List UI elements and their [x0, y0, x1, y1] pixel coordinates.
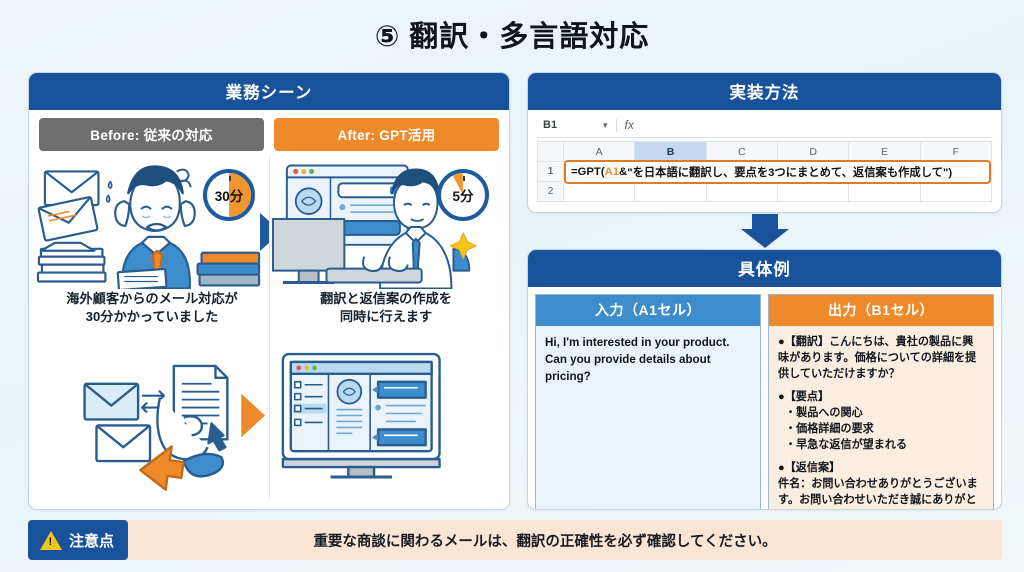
input-column: 入力（A1セル） Hi, I'm interested in your prod… [535, 294, 761, 510]
cell-d2[interactable] [777, 182, 848, 202]
flow-arrow-down [527, 213, 1002, 249]
column-header-d[interactable]: D [777, 142, 848, 162]
cell-f2[interactable] [920, 182, 991, 202]
before-to-after-arrow [260, 213, 269, 251]
arrow-down-icon [741, 214, 789, 248]
warning-triangle-icon [40, 531, 62, 550]
spreadsheet: B1 ▾ fx A B C D E F 1 [528, 110, 1001, 212]
stopwatch-stem [459, 169, 467, 170]
column-header-b[interactable]: B [635, 142, 706, 162]
list-item: ・製品への関心 [785, 406, 984, 422]
tab-before[interactable]: Before: 従来の対応 [39, 118, 264, 151]
business-scene-panel: 業務シーン Before: 従来の対応 After: GPT活用 [28, 72, 510, 510]
example-panel: 具体例 入力（A1セル） Hi, I'm interested in your … [527, 249, 1002, 510]
table-row: 2 [538, 182, 992, 202]
formula-prefix: =GPT( [571, 166, 605, 178]
output-reply-text: 件名：お問い合わせありがとうございます。お問い合わせいただき誠にありがとうござい… [778, 477, 984, 510]
bottom-left-illustration [35, 325, 269, 506]
after-caption-line1: 翻訳と返信案の作成を [269, 290, 503, 308]
warning-bar: 注意点 重要な商談に関わるメールは、翻訳の正確性を必ず確認してください。 [28, 520, 1002, 560]
business-scene-body: Before: 従来の対応 After: GPT活用 [29, 110, 509, 509]
before-caption-line1: 海外顧客からのメール対応が [35, 290, 269, 308]
example-header: 具体例 [528, 250, 1001, 287]
output-text: ●【翻訳】こんにちは、貴社の製品に興味があります。価格についての詳細を提供してい… [769, 326, 993, 510]
before-after-tabs: Before: 従来の対応 After: GPT活用 [29, 110, 509, 155]
output-header: 出力（B1セル） [769, 295, 993, 326]
chevron-down-icon[interactable]: ▾ [603, 120, 608, 131]
column-header-row: A B C D E F [538, 142, 992, 162]
list-item: ・価格詳細の要求 [785, 422, 984, 438]
input-text: Hi, I'm interested in your product. Can … [536, 326, 760, 510]
after-caption-line2: 同時に行えます [269, 308, 503, 326]
formula-text[interactable]: =GPT(A1 & "を日本語に翻訳し、要点を3つにまとめて、返信案も作成して"… [564, 160, 991, 184]
content-board: 業務シーン Before: 従来の対応 After: GPT活用 [28, 72, 1002, 510]
implementation-header: 実装方法 [528, 73, 1001, 110]
before-caption-line2: 30分かかっていました [35, 308, 269, 326]
grid-corner [538, 142, 564, 162]
row-header-1[interactable]: 1 [538, 162, 564, 182]
left-column: 業務シーン Before: 従来の対応 After: GPT活用 [28, 72, 510, 510]
implementation-panel: 実装方法 B1 ▾ fx A B C D E F [527, 72, 1002, 213]
warning-message: 重要な商談に関わるメールは、翻訳の正確性を必ず確認してください。 [128, 530, 1002, 551]
fx-icon: fx [625, 118, 634, 132]
input-header: 入力（A1セル） [536, 295, 760, 326]
output-block-translation: ●【翻訳】こんにちは、貴社の製品に興味があります。価格についての詳細を提供してい… [778, 335, 984, 383]
cell-e2[interactable] [849, 182, 920, 202]
formula-cell-ref: A1 [605, 166, 619, 178]
output-summary-label: ●【要点】 [778, 390, 984, 406]
output-reply-label: ●【返信案】 [778, 461, 984, 477]
before-timer-badge: 30分 [203, 169, 255, 221]
column-header-f[interactable]: F [920, 142, 991, 162]
tab-after[interactable]: After: GPT活用 [274, 118, 499, 151]
formula-amp: & [619, 166, 627, 178]
business-scene-header: 業務シーン [29, 73, 509, 110]
example-body: 入力（A1セル） Hi, I'm interested in your prod… [528, 287, 1001, 510]
orange-right-arrow [241, 394, 265, 438]
column-header-c[interactable]: C [706, 142, 777, 162]
output-translation-label: ●【翻訳】 [778, 336, 829, 348]
spreadsheet-toolbar: B1 ▾ fx [537, 117, 992, 138]
illustration-grid: 30分 [29, 155, 509, 510]
formula-cell[interactable]: =GPT(A1 & "を日本語に翻訳し、要点を3つにまとめて、返信案も作成して"… [564, 162, 992, 182]
cell-c2[interactable] [706, 182, 777, 202]
after-timer-label: 5分 [452, 185, 473, 205]
before-illustration: 30分 [35, 157, 269, 289]
column-header-a[interactable]: A [564, 142, 635, 162]
cell-a2[interactable] [564, 182, 635, 202]
after-illustration: 5分 [269, 157, 503, 289]
warning-tag: 注意点 [28, 520, 128, 560]
monitor-chat-illustration [269, 325, 503, 506]
column-header-e[interactable]: E [849, 142, 920, 162]
page-title: ⑤ 翻訳・多言語対応 [0, 0, 1024, 60]
after-timer-badge: 5分 [437, 169, 489, 221]
after-caption: 翻訳と返信案の作成を 同時に行えます [269, 289, 503, 325]
before-timer-label: 30分 [215, 185, 244, 205]
stopwatch-stem [225, 169, 233, 170]
before-caption: 海外顧客からのメール対応が 30分かかっていました [35, 289, 269, 325]
output-column: 出力（B1セル） ●【翻訳】こんにちは、貴社の製品に興味があります。価格について… [768, 294, 994, 510]
output-summary-bullets: ・製品への関心 ・価格詳細の要求 ・早急な返信が望まれる [778, 406, 984, 454]
table-row: 1 =GPT(A1 & "を日本語に翻訳し、要点を3つにまとめて、返信案も作成し… [538, 162, 992, 182]
spreadsheet-grid: A B C D E F 1 =GPT(A1 & "を日本語に翻訳し、要点を3つに… [537, 141, 992, 202]
warning-tag-label: 注意点 [69, 530, 114, 551]
arrow-shaft [752, 214, 778, 229]
row-header-2[interactable]: 2 [538, 182, 564, 202]
output-block-reply: ●【返信案】 件名：お問い合わせありがとうございます。お問い合わせいただき誠にあ… [778, 461, 984, 510]
toolbar-divider [616, 119, 617, 132]
output-block-summary: ●【要点】 ・製品への関心 ・価格詳細の要求 ・早急な返信が望まれる [778, 390, 984, 454]
cell-b2[interactable] [635, 182, 706, 202]
right-column: 実装方法 B1 ▾ fx A B C D E F [527, 72, 1002, 510]
bottom-right-illustration [269, 325, 503, 506]
email-translate-document-illustration [35, 325, 269, 506]
formula-string: "を日本語に翻訳し、要点を3つにまとめて、返信案も作成して") [627, 164, 952, 180]
name-box[interactable]: B1 [539, 119, 595, 131]
arrow-head [741, 229, 789, 248]
list-item: ・早急な返信が望まれる [785, 438, 984, 454]
